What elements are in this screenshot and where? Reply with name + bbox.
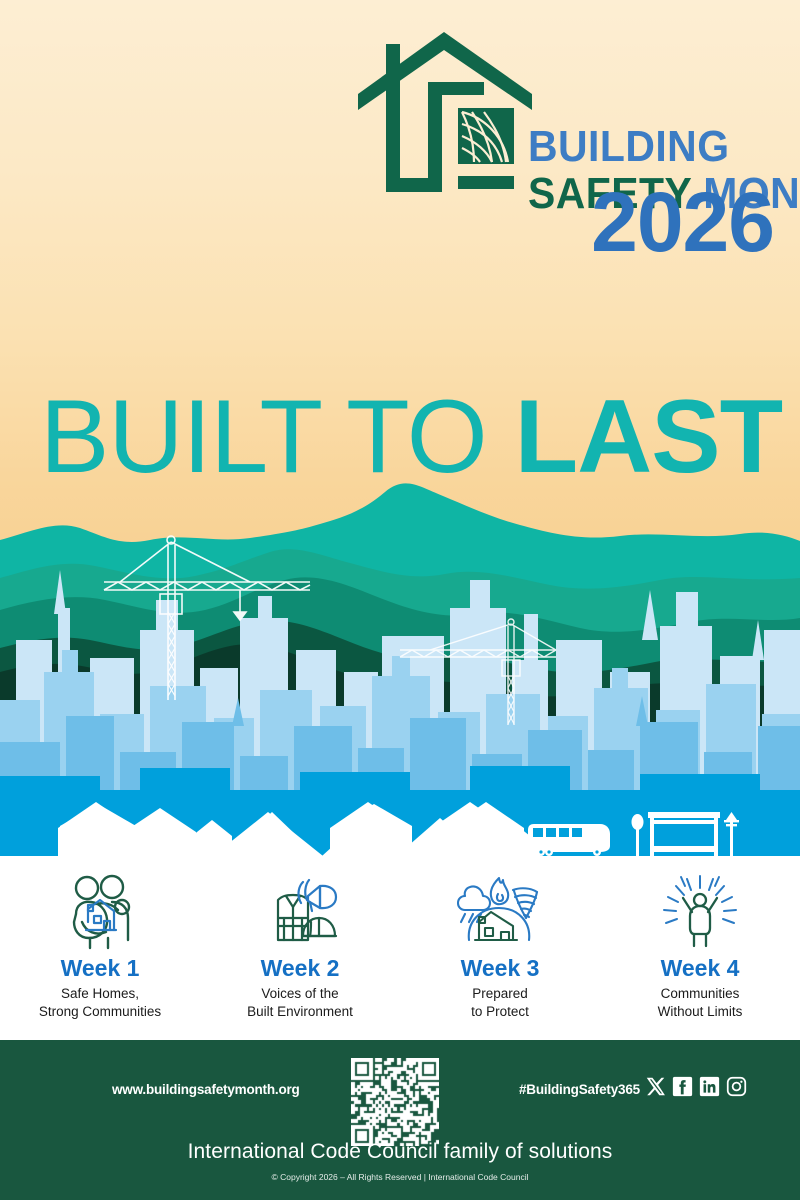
x-twitter-icon[interactable] — [645, 1076, 666, 1097]
headline-light-part: BUILT TO — [40, 379, 515, 495]
safety-vest-hardhat-megaphone-icon — [200, 872, 400, 950]
building-safety-month-logo: BUILDING SAFETY MONTH 2026 — [352, 30, 782, 300]
week-1-item[interactable]: Week 1 Safe Homes, Strong Communities — [0, 872, 200, 1021]
week-4-description: Communities Without Limits — [600, 985, 800, 1021]
week-2-title: Week 2 — [200, 956, 400, 981]
logo-line-building: BUILDING — [528, 125, 800, 169]
headline-bold-part: LAST — [515, 379, 783, 495]
week-2-desc-line2: Built Environment — [200, 1003, 400, 1021]
linkedin-icon[interactable] — [699, 1076, 720, 1097]
week-4-desc-line2: Without Limits — [600, 1003, 800, 1021]
week-3-desc-line1: Prepared — [400, 985, 600, 1003]
person-arms-raised-rays-icon — [600, 872, 800, 950]
house-globe-logo-icon — [352, 32, 532, 202]
instagram-icon[interactable] — [726, 1076, 747, 1097]
bus-icon — [528, 824, 610, 856]
week-4-title: Week 4 — [600, 956, 800, 981]
poster: BUILDING SAFETY MONTH 2026 BUILT TO LAST — [0, 0, 800, 1200]
logo-year: 2026 — [591, 180, 774, 264]
week-1-desc-line1: Safe Homes, — [0, 985, 200, 1003]
website-link[interactable]: www.buildingsafetymonth.org — [112, 1082, 300, 1097]
week-4-desc-line1: Communities — [600, 985, 800, 1003]
weeks-strip: Week 1 Safe Homes, Strong Communities — [0, 860, 800, 1040]
week-3-description: Prepared to Protect — [400, 985, 600, 1021]
week-3-title: Week 3 — [400, 956, 600, 981]
hashtag-label: #BuildingSafety365 — [519, 1082, 640, 1097]
week-1-title: Week 1 — [0, 956, 200, 981]
page-title: BUILT TO LAST — [40, 385, 770, 489]
week-1-description: Safe Homes, Strong Communities — [0, 985, 200, 1021]
week-4-item[interactable]: Week 4 Communities Without Limits — [600, 872, 800, 1021]
week-1-desc-line2: Strong Communities — [0, 1003, 200, 1021]
week-2-description: Voices of the Built Environment — [200, 985, 400, 1021]
family-embracing-house-icon — [0, 872, 200, 950]
organization-line: International Code Council family of sol… — [0, 1140, 800, 1164]
week-3-item[interactable]: Week 3 Prepared to Protect — [400, 872, 600, 1021]
facebook-icon[interactable] — [672, 1076, 693, 1097]
copyright-line: © Copyright 2026 – All Rights Reserved |… — [0, 1172, 800, 1182]
house-storm-fire-tornado-icon — [400, 872, 600, 950]
social-links — [645, 1076, 747, 1097]
week-2-desc-line1: Voices of the — [200, 985, 400, 1003]
week-2-item[interactable]: Week 2 Voices of the Built Environment — [200, 872, 400, 1021]
qr-code[interactable] — [351, 1058, 439, 1146]
week-3-desc-line2: to Protect — [400, 1003, 600, 1021]
